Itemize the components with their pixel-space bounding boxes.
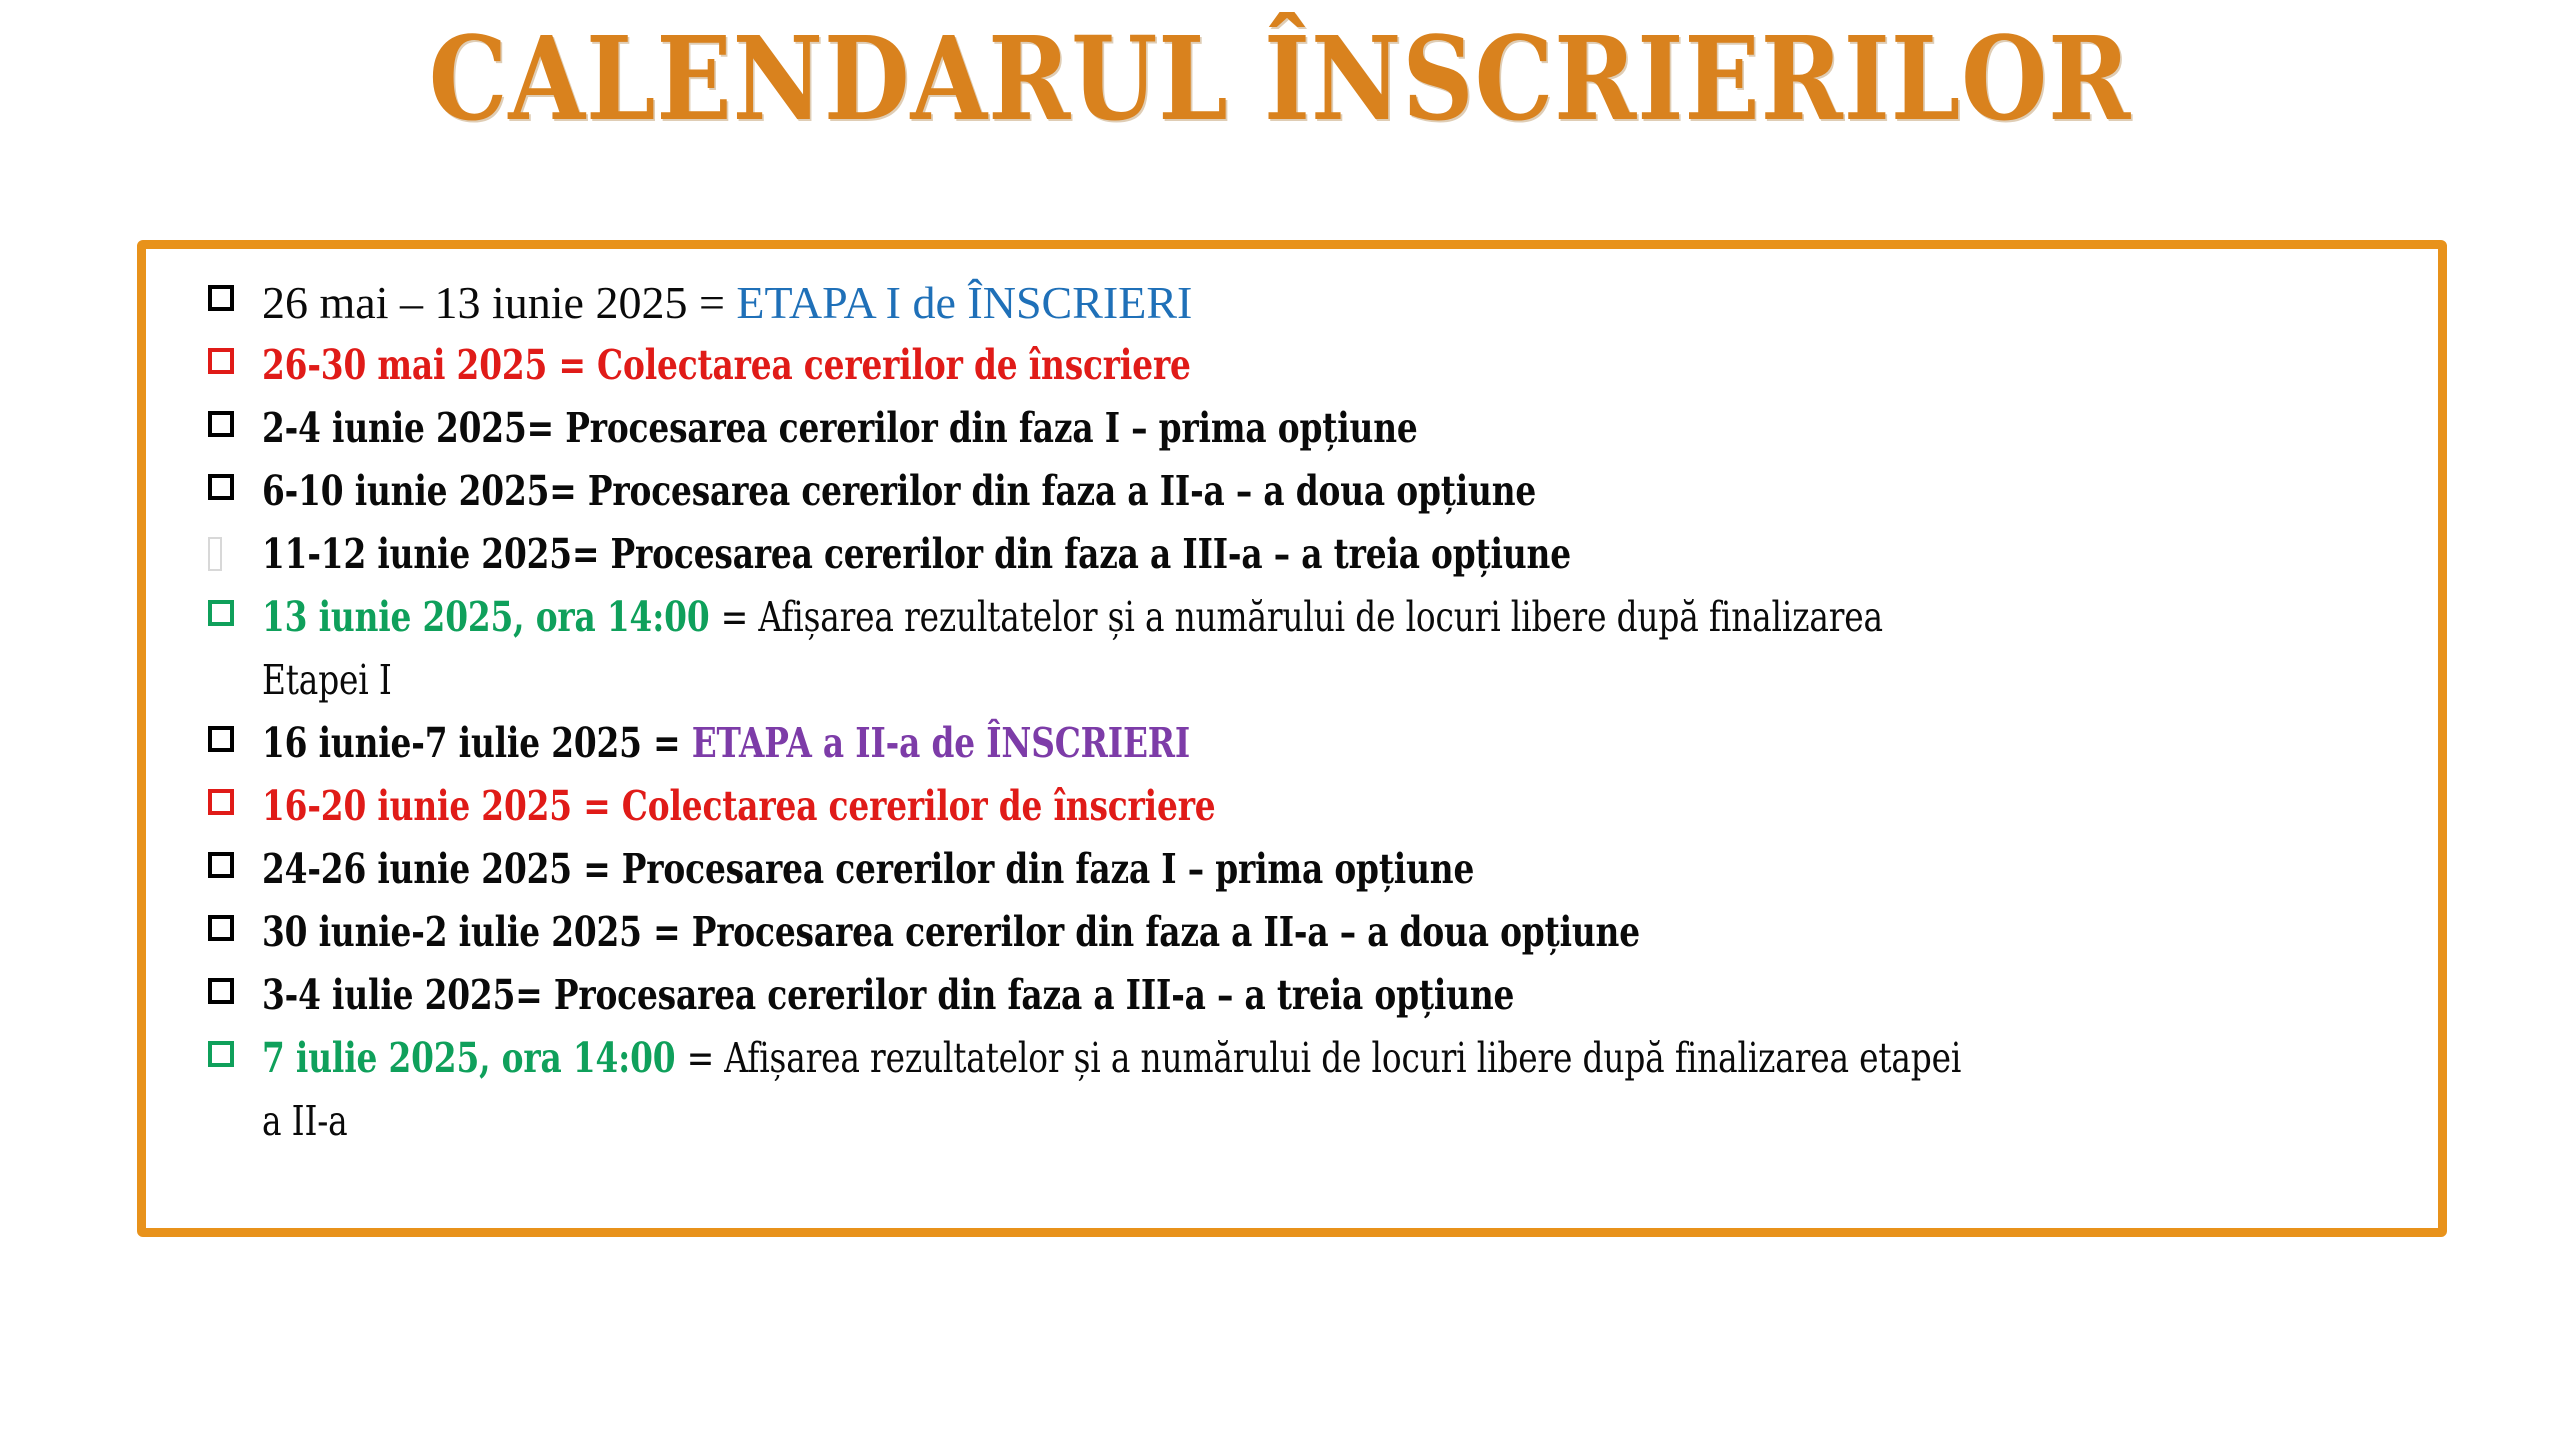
list-item-date: 2-4 iunie 2025=	[262, 404, 565, 452]
calendar-content-frame: 26 mai – 13 iunie 2025 = ETAPA I de ÎNSC…	[137, 240, 2447, 1237]
list-item-date: 26-30 mai 2025 =	[262, 341, 597, 389]
list-item-desc: ETAPA a II-a de ÎNSCRIERI	[692, 719, 1190, 767]
list-item-text: 24-26 iunie 2025 = Procesarea cererilor …	[262, 838, 1982, 901]
list-item-date: 13 iunie 2025, ora 14:00	[262, 593, 721, 641]
list-item[interactable]: 13 iunie 2025, ora 14:00 = Afișarea rezu…	[208, 586, 2412, 712]
list-item-desc: Procesarea cererilor din faza I – prima …	[565, 404, 1417, 452]
list-item[interactable]: 30 iunie-2 iulie 2025 = Procesarea cerer…	[208, 901, 2412, 964]
list-item-text: 2-4 iunie 2025= Procesarea cererilor din…	[262, 397, 1982, 460]
faint-square-bullet-icon	[208, 523, 262, 571]
list-item-date: 7 iulie 2025, ora 14:00	[262, 1034, 687, 1082]
hollow-square-shadow-bullet-icon	[208, 460, 262, 500]
list-item[interactable]: 16-20 iunie 2025 = Colectarea cererilor …	[208, 775, 2412, 838]
calendar-list: 26 mai – 13 iunie 2025 = ETAPA I de ÎNSC…	[146, 271, 2438, 1153]
list-item-desc: Procesarea cererilor din faza a II-a – a…	[588, 467, 1536, 515]
list-item[interactable]: 26-30 mai 2025 = Colectarea cererilor de…	[208, 334, 2412, 397]
hollow-square-shadow-bullet-icon	[208, 712, 262, 752]
list-item-date: 24-26 iunie 2025 =	[262, 845, 622, 893]
list-item-desc: Procesarea cererilor din faza I – prima …	[622, 845, 1474, 893]
list-item-desc: Procesarea cererilor din faza a III-a – …	[611, 530, 1571, 578]
list-item-date: 26 mai – 13 iunie 2025 =	[262, 277, 736, 328]
list-item-text: 7 iulie 2025, ora 14:00 = Afișarea rezul…	[262, 1027, 1982, 1153]
list-item-date: 16-20 iunie 2025 =	[262, 782, 622, 830]
list-item[interactable]: 16 iunie-7 iulie 2025 = ETAPA a II-a de …	[208, 712, 2412, 775]
list-item-text: 26-30 mai 2025 = Colectarea cererilor de…	[262, 334, 1982, 397]
hollow-square-shadow-bullet-icon	[208, 775, 262, 815]
list-item-desc: Colectarea cererilor de înscriere	[622, 782, 1216, 830]
list-item[interactable]: 26 mai – 13 iunie 2025 = ETAPA I de ÎNSC…	[208, 271, 2412, 334]
hollow-square-shadow-bullet-icon	[208, 838, 262, 878]
list-item-date: 3-4 iulie 2025=	[262, 971, 554, 1019]
list-item-desc: Colectarea cererilor de înscriere	[597, 341, 1191, 389]
list-item[interactable]: 11-12 iunie 2025= Procesarea cererilor d…	[208, 523, 2412, 586]
list-item[interactable]: 6-10 iunie 2025= Procesarea cererilor di…	[208, 460, 2412, 523]
list-item-text: 11-12 iunie 2025= Procesarea cererilor d…	[262, 523, 1982, 586]
list-item-date: 30 iunie-2 iulie 2025 =	[262, 908, 692, 956]
list-item[interactable]: 24-26 iunie 2025 = Procesarea cererilor …	[208, 838, 2412, 901]
hollow-square-shadow-bullet-icon	[208, 901, 262, 941]
list-item-text: 13 iunie 2025, ora 14:00 = Afișarea rezu…	[262, 586, 1982, 712]
page-title: CALENDARUL ÎNSCRIERILOR	[179, 22, 2381, 137]
list-item-text: 26 mai – 13 iunie 2025 = ETAPA I de ÎNSC…	[262, 271, 2412, 334]
list-item-text: 16-20 iunie 2025 = Colectarea cererilor …	[262, 775, 1982, 838]
list-item[interactable]: 7 iulie 2025, ora 14:00 = Afișarea rezul…	[208, 1027, 2412, 1153]
hollow-square-shadow-bullet-icon	[208, 964, 262, 1004]
list-item-text: 16 iunie-7 iulie 2025 = ETAPA a II-a de …	[262, 712, 1982, 775]
list-item-text: 30 iunie-2 iulie 2025 = Procesarea cerer…	[262, 901, 1982, 964]
list-item-date: 6-10 iunie 2025=	[262, 467, 588, 515]
list-item-desc: ETAPA I de ÎNSCRIERI	[736, 277, 1192, 328]
list-item-date: 11-12 iunie 2025=	[262, 530, 611, 578]
hollow-square-green-bullet-icon	[208, 1027, 262, 1067]
list-item-desc: Procesarea cererilor din faza a II-a – a…	[692, 908, 1640, 956]
list-item-date: 16 iunie-7 iulie 2025 =	[262, 719, 692, 767]
list-item[interactable]: 2-4 iunie 2025= Procesarea cererilor din…	[208, 397, 2412, 460]
hollow-square-green-bullet-icon	[208, 586, 262, 626]
list-item-desc: Procesarea cererilor din faza a III-a – …	[554, 971, 1514, 1019]
hollow-square-shadow-bullet-icon	[208, 334, 262, 374]
slide-canvas: CALENDARUL ÎNSCRIERILOR 26 mai – 13 iuni…	[0, 0, 2560, 1440]
list-item[interactable]: 3-4 iulie 2025= Procesarea cererilor din…	[208, 964, 2412, 1027]
hollow-square-shadow-bullet-icon	[208, 271, 262, 311]
list-item-text: 3-4 iulie 2025= Procesarea cererilor din…	[262, 964, 1982, 1027]
list-item-text: 6-10 iunie 2025= Procesarea cererilor di…	[262, 460, 1982, 523]
hollow-square-shadow-bullet-icon	[208, 397, 262, 437]
